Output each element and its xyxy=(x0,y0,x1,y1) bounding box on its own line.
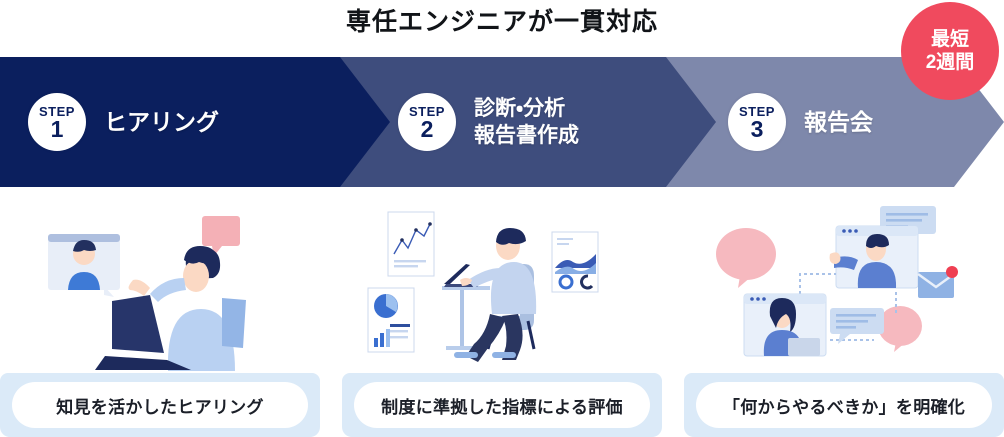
caption-pill-1: 知見を活かしたヒアリング xyxy=(12,382,308,428)
caption-pill-3: 「何からやるべきか」を明確化 xyxy=(696,382,992,428)
duration-badge-line2: 2週間 xyxy=(926,51,975,74)
infographic-root: 専任エンジニアが一貫対応 STEP 1 ヒアリング STEP 2 診断・分析 報… xyxy=(0,0,1004,437)
step-label-1: ヒアリング xyxy=(104,108,219,136)
analyst-desk-charts-illustration xyxy=(342,196,662,376)
caption-band-3: 「何からやるべきか」を明確化 xyxy=(684,373,1004,437)
duration-badge: 最短 2週間 xyxy=(901,2,999,100)
step-flow-bar: STEP 1 ヒアリング STEP 2 診断・分析 報告書作成 STEP 3 xyxy=(0,57,1004,187)
panel-step-2: 制度に準拠した指標による評価 xyxy=(342,196,662,437)
online-meeting-report-illustration xyxy=(684,196,1004,376)
caption-band-1: 知見を活かしたヒアリング xyxy=(0,373,320,437)
video-call-hearing-illustration xyxy=(0,196,320,376)
step-chevron-1[interactable]: STEP 1 ヒアリング xyxy=(0,57,390,187)
step-number-1: 1 xyxy=(51,118,64,140)
page-title: 専任エンジニアが一貫対応 xyxy=(0,6,1004,38)
caption-pill-2: 制度に準拠した指標による評価 xyxy=(354,382,650,428)
step-number-2: 2 xyxy=(421,118,434,140)
step-badge-2: STEP 2 xyxy=(398,93,456,151)
step-badge-1: STEP 1 xyxy=(28,93,86,151)
duration-badge-line1: 最短 xyxy=(931,28,969,51)
panel-step-1: 知見を活かしたヒアリング xyxy=(0,196,320,437)
step-badge-3: STEP 3 xyxy=(728,93,786,151)
caption-band-2: 制度に準拠した指標による評価 xyxy=(342,373,662,437)
panel-row: 知見を活かしたヒアリング xyxy=(0,196,1004,437)
panel-step-3: 「何からやるべきか」を明確化 xyxy=(684,196,1004,437)
step-number-3: 3 xyxy=(751,118,764,140)
step-chevron-2[interactable]: STEP 2 診断・分析 報告書作成 xyxy=(338,57,716,187)
step-label-3: 報告会 xyxy=(804,108,873,136)
step-label-2: 診断・分析 報告書作成 xyxy=(474,95,579,149)
